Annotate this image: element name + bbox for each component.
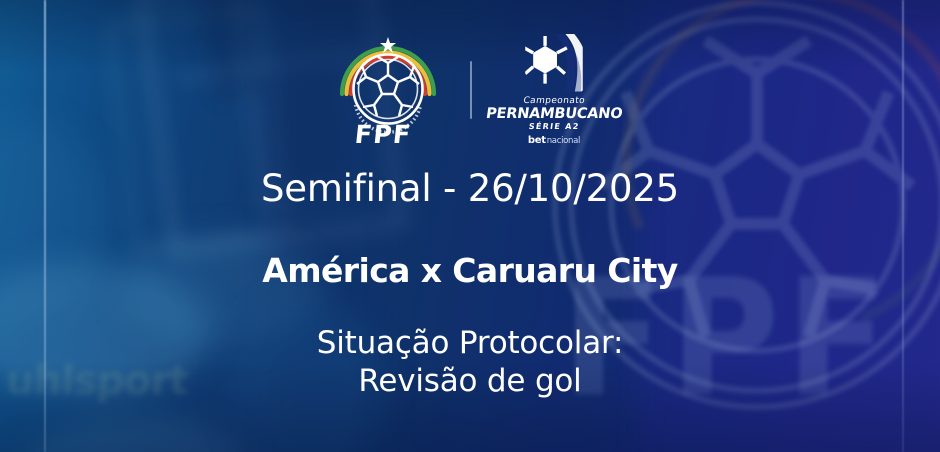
match-teams: América x Caruaru City xyxy=(0,253,940,289)
round-and-date: Semifinal - 26/10/2025 xyxy=(0,168,940,211)
campeonato-pernambucano-logo: Campeonato PERNAMBUCANO SÉRIE A2 betnaci… xyxy=(500,34,608,146)
svg-text:FPF: FPF xyxy=(353,120,413,148)
sponsor-bet-text: bet xyxy=(528,136,546,146)
campeonato-line2: PERNAMBUCANO xyxy=(485,107,623,122)
logo-header: FPF Cam xyxy=(0,30,940,150)
match-info-block: Semifinal - 26/10/2025 América x Caruaru… xyxy=(0,168,940,400)
match-status-card: uhlsport FPF xyxy=(0,0,940,452)
protocol-status-label: Situação Protocolar: xyxy=(0,324,940,362)
sponsor-nacional-text: nacional xyxy=(547,137,580,146)
sponsor-betnacional: betnacional xyxy=(486,136,622,146)
campeonato-mark-icon xyxy=(519,34,589,94)
campeonato-line1: Campeonato xyxy=(485,97,623,106)
campeonato-line3: SÉRIE A2 xyxy=(485,123,622,131)
logo-divider xyxy=(470,61,472,119)
protocol-status: Situação Protocolar: Revisão de gol xyxy=(0,324,940,400)
fpf-logo: FPF xyxy=(332,32,444,148)
campeonato-text-block: Campeonato PERNAMBUCANO SÉRIE A2 betnaci… xyxy=(486,97,622,147)
background-blur-blob-b xyxy=(20,415,250,452)
protocol-status-value: Revisão de gol xyxy=(0,362,940,400)
